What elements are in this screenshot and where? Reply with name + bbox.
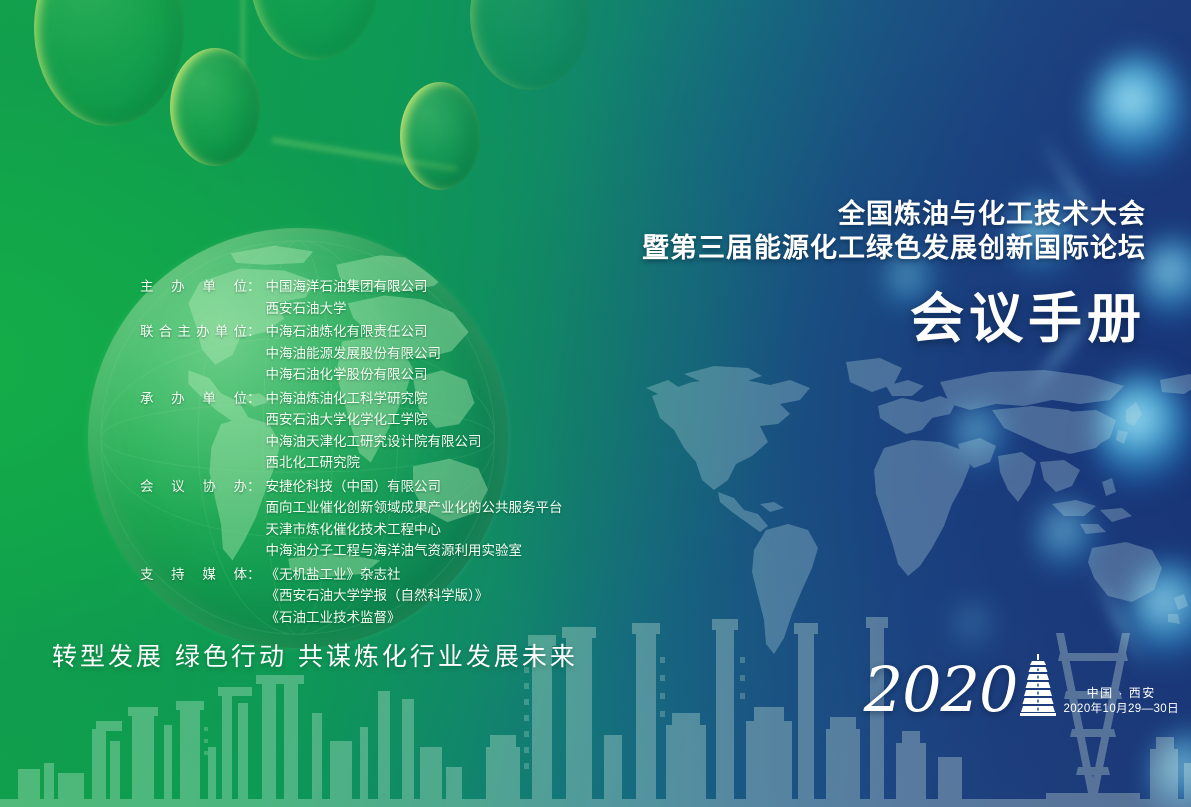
organizer-row: 承办单位 ： 中海油炼油化工科学研究院 西安石油大学化学化工学院 中海油天津化工… (140, 388, 563, 474)
organizer-values: 中海油炼油化工科学研究院 西安石油大学化学化工学院 中海油天津化工研究设计院有限… (266, 388, 563, 474)
organizer-label: 会议协办 (140, 476, 247, 498)
organizer-values: 中海石油炼化有限责任公司 中海油能源发展股份有限公司 中海石油化学股份有限公司 (266, 321, 563, 386)
page-title: 全国炼油与化工技术大会 (642, 198, 1146, 232)
organizer-values: 《无机盐工业》杂志社 《西安石油大学学报（自然科学版）》 《石油工业技术监督》 (266, 564, 563, 629)
organizer-value: 《无机盐工业》杂志社 (266, 564, 563, 586)
organizer-label: 联合主办单位 (140, 321, 247, 343)
venue-date: 2020年10月29—30日 (1063, 701, 1179, 717)
organizer-value: 《西安石油大学学报（自然科学版）》 (266, 585, 563, 607)
title-block: 全国炼油与化工技术大会 暨第三届能源化工绿色发展创新国际论坛 会议手册 (642, 198, 1146, 350)
organizer-row: 支持媒体 ： 《无机盐工业》杂志社 《西安石油大学学报（自然科学版）》 《石油工… (140, 564, 563, 629)
year-venue-block: 2020 (864, 654, 1179, 719)
organizers-list: 主办单位 ： 中国海洋石油集团有限公司 西安石油大学 联合主办单位 ： 中海石油… (140, 276, 563, 630)
organizer-label: 支持媒体 (140, 564, 247, 586)
organizer-value: 《石油工业技术监督》 (266, 607, 563, 629)
organizer-label: 主办单位 (140, 276, 247, 298)
organizer-value: 安捷伦科技（中国）有限公司 (266, 476, 563, 498)
organizer-colon: ： (247, 476, 266, 498)
organizer-value: 中国海洋石油集团有限公司 (266, 276, 563, 298)
organizer-row: 联合主办单位 ： 中海石油炼化有限责任公司 中海油能源发展股份有限公司 中海石油… (140, 321, 563, 386)
organizer-value: 西安石油大学化学化工学院 (266, 409, 563, 431)
organizer-value: 中海油天津化工研究设计院有限公司 (266, 431, 563, 453)
organizer-label: 承办单位 (140, 388, 247, 410)
organizer-values: 安捷伦科技（中国）有限公司 面向工业催化创新领域成果产业化的公共服务平台 天津市… (266, 476, 563, 562)
organizer-values: 中国海洋石油集团有限公司 西安石油大学 (266, 276, 563, 319)
organizer-value: 中海油能源发展股份有限公司 (266, 343, 563, 365)
molecule-bubble-icon (170, 48, 260, 166)
organizer-value: 西安石油大学 (266, 298, 563, 320)
organizer-value: 中海油炼油化工科学研究院 (266, 388, 563, 410)
molecule-bubble-icon (400, 82, 480, 190)
organizer-colon: ： (247, 276, 266, 298)
venue-city: 中国 · 西安 (1063, 685, 1179, 701)
conference-brochure-cover: 主办单位 ： 中国海洋石油集团有限公司 西安石油大学 联合主办单位 ： 中海石油… (0, 0, 1191, 807)
organizer-row: 会议协办 ： 安捷伦科技（中国）有限公司 面向工业催化创新领域成果产业化的公共服… (140, 476, 563, 562)
organizer-value: 中海石油炼化有限责任公司 (266, 321, 563, 343)
pagoda-icon (1019, 654, 1057, 721)
organizer-colon: ： (247, 564, 266, 586)
venue-block: 中国 · 西安 2020年10月29—30日 (1063, 685, 1179, 719)
slogan: 转型发展 绿色行动 共谋炼化行业发展未来 (52, 637, 578, 673)
organizer-value: 面向工业催化创新领域成果产业化的公共服务平台 (266, 497, 563, 519)
organizer-value: 中海石油化学股份有限公司 (266, 364, 563, 386)
organizer-value: 中海油分子工程与海洋油气资源利用实验室 (266, 540, 563, 562)
organizer-value: 天津市炼化催化技术工程中心 (266, 519, 563, 541)
organizer-colon: ： (247, 388, 266, 410)
glow-node-icon (1090, 52, 1188, 178)
organizer-row: 主办单位 ： 中国海洋石油集团有限公司 西安石油大学 (140, 276, 563, 319)
handbook-label: 会议手册 (642, 288, 1146, 350)
organizer-value: 西北化工研究院 (266, 452, 563, 474)
page-subtitle: 暨第三届能源化工绿色发展创新国际论坛 (642, 232, 1146, 266)
year-label: 2020 (864, 661, 1018, 719)
organizer-colon: ： (247, 321, 266, 343)
